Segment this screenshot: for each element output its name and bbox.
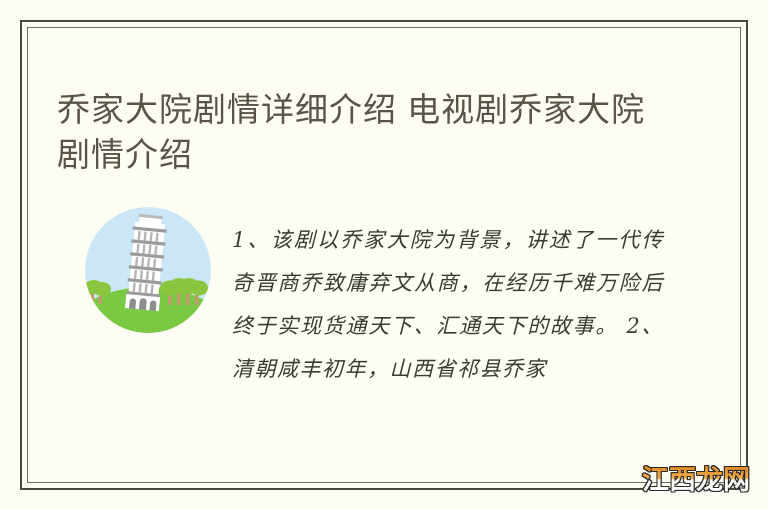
page-title: 乔家大院剧情详细介绍 电视剧乔家大院剧情介绍 [57,87,677,177]
article-body-text: 1、该剧以乔家大院为背景，讲述了一代传奇晋商乔致庸弃文从商，在经历千难万险后终于… [232,219,664,391]
site-watermark: 江西龙网 [642,466,750,496]
leaning-tower-of-pisa-icon [85,207,211,333]
article-body-section: 1、该剧以乔家大院为背景，讲述了一代传奇晋商乔致庸弃文从商，在经历千难万险后终于… [27,180,741,483]
page-content: 乔家大院剧情详细介绍 电视剧乔家大院剧情介绍 [27,27,741,483]
page-root: 乔家大院剧情详细介绍 电视剧乔家大院剧情介绍 [0,0,768,510]
article-thumbnail [85,207,211,333]
